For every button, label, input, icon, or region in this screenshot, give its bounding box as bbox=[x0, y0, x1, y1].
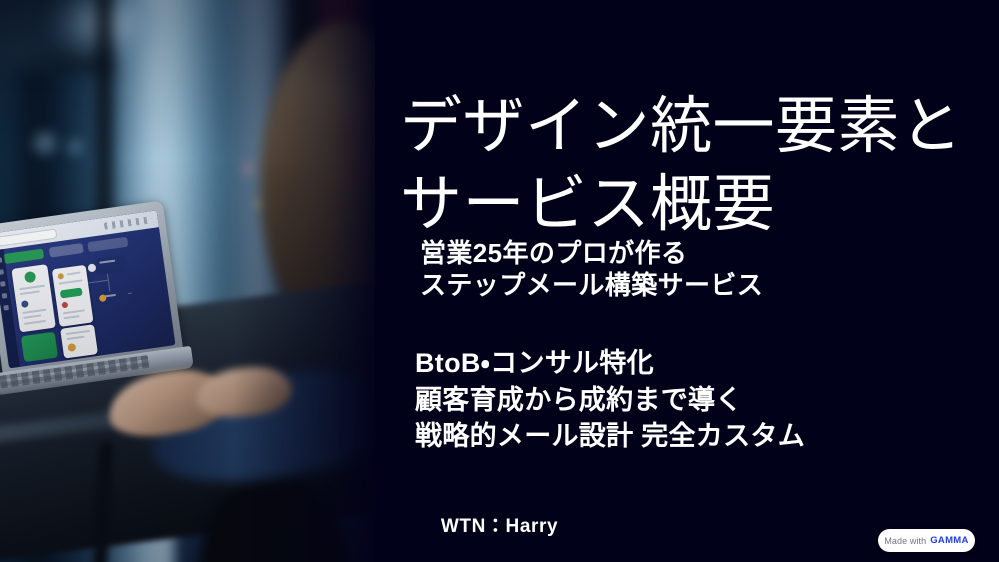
slide-subtitle: 営業25年のプロが作る ステップメール構築サービス bbox=[420, 237, 980, 301]
presentation-slide: デザイン統一要素と サービス概要 営業25年のプロが作る ステップメール構築サー… bbox=[0, 0, 999, 562]
slide-title: デザイン統一要素と サービス概要 bbox=[400, 88, 975, 244]
made-with-gamma-badge[interactable]: Made with GAMMA bbox=[878, 529, 975, 552]
photo-color-grade bbox=[0, 0, 375, 562]
badge-made-with-label: Made with bbox=[884, 536, 926, 546]
slide-content: デザイン統一要素と サービス概要 営業25年のプロが作る ステップメール構築サー… bbox=[375, 0, 999, 562]
hero-photo bbox=[0, 0, 375, 562]
presenter-credit: WTN：Harry bbox=[0, 511, 999, 538]
slide-body-text: BtoB・コンサル特化 顧客育成から成約まで導く 戦略的メール設計 完全カスタム bbox=[415, 345, 990, 455]
badge-gamma-brand: GAMMA bbox=[930, 535, 968, 546]
